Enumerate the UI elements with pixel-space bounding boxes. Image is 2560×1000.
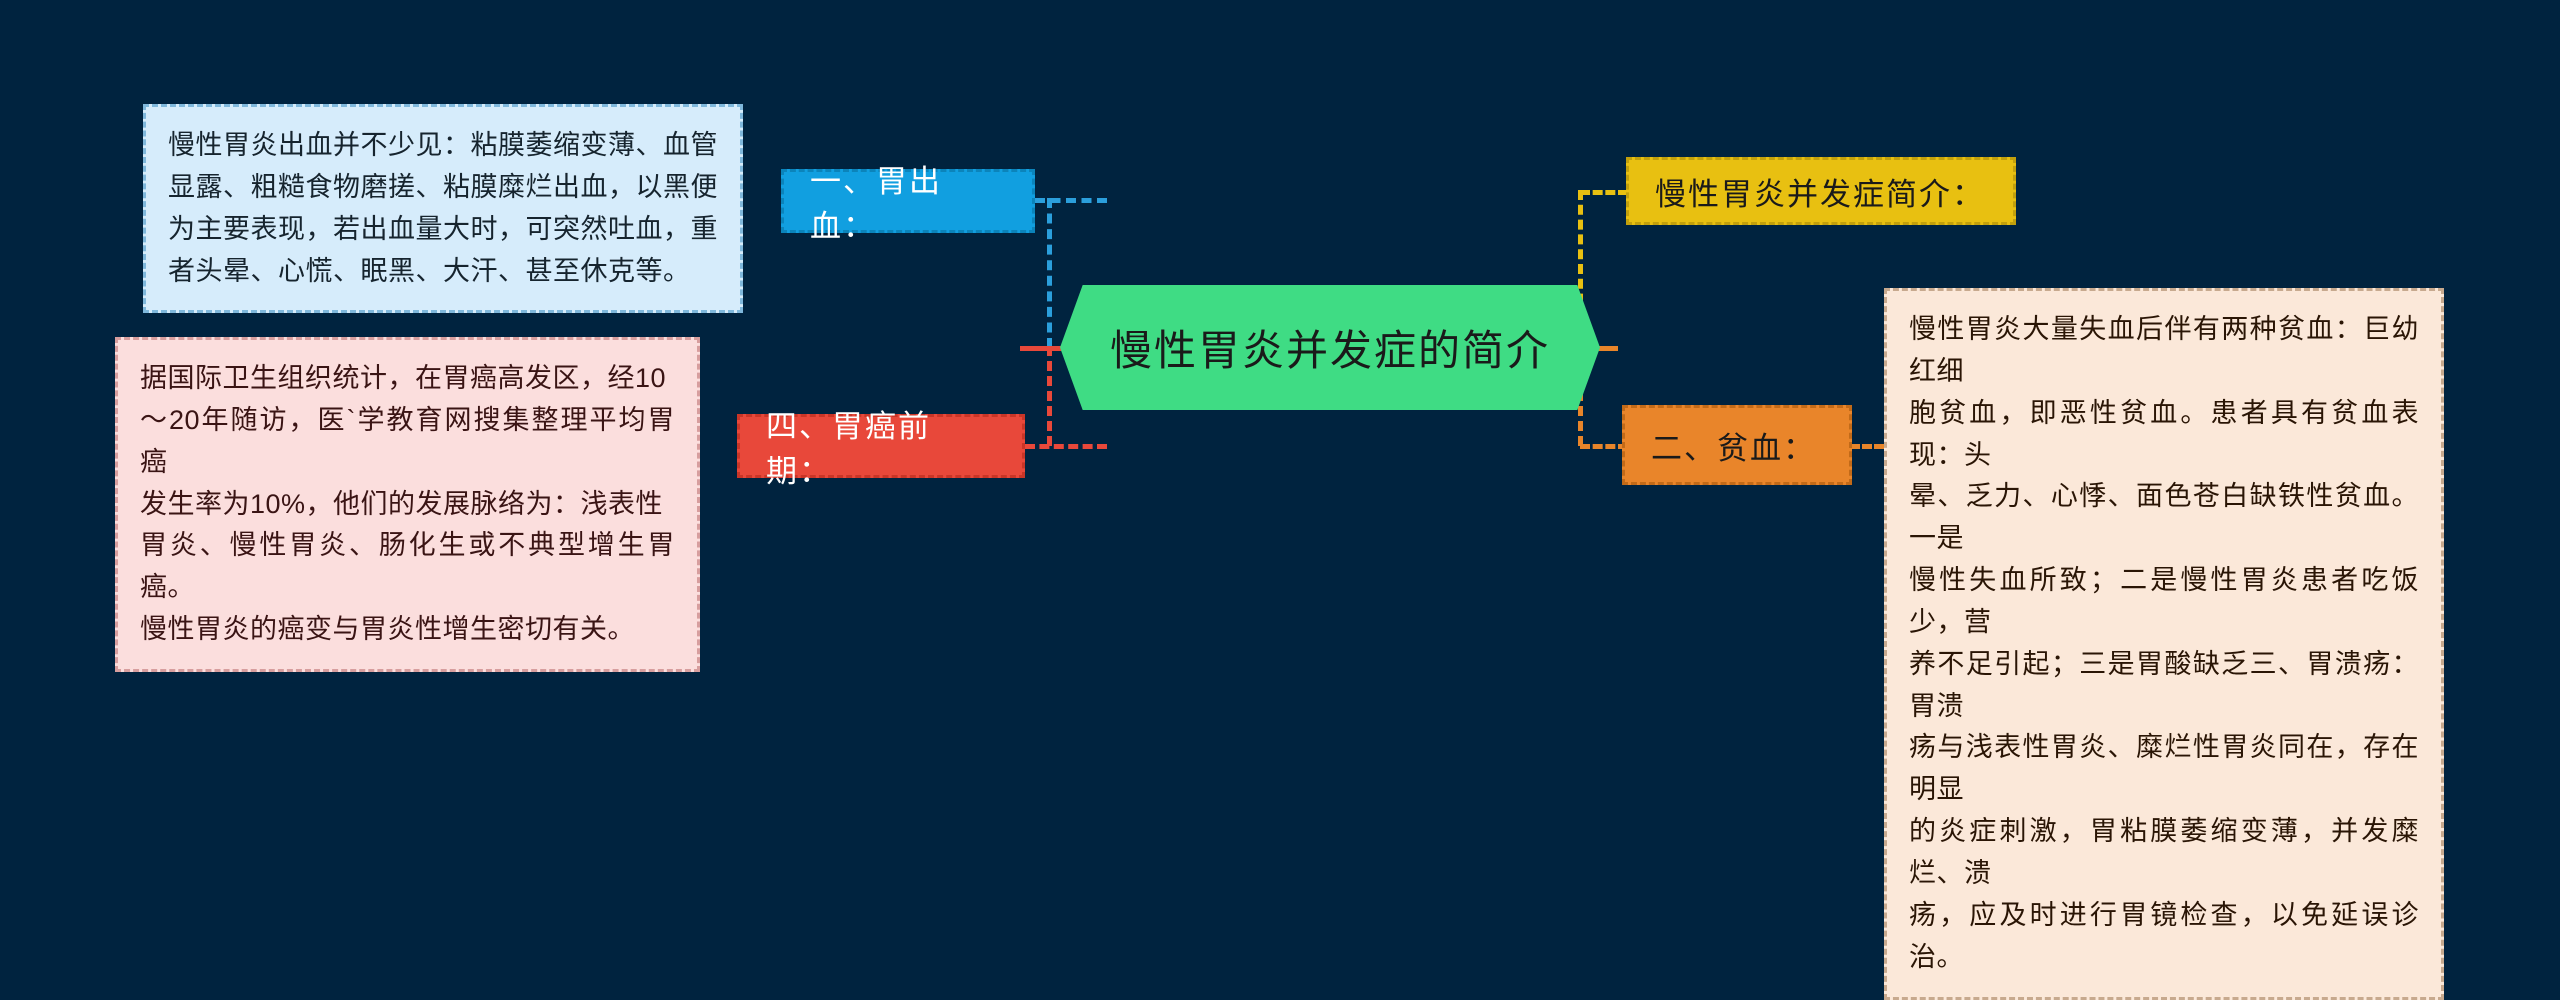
branch-label-text: 四、胃癌前期：	[766, 401, 996, 491]
branch-label-precancerous[interactable]: 四、胃癌前期：	[737, 414, 1025, 478]
connector-precancer-vertical	[1047, 346, 1052, 446]
detail-line: 慢性胃炎出血并不少见：粘膜萎缩变薄、血管	[168, 125, 718, 167]
detail-line: 慢性胃炎的癌变与胃炎性增生密切有关。	[140, 609, 675, 651]
detail-line: 为主要表现，若出血量大时，可突然吐血，重	[168, 209, 718, 251]
connector-intro-horizontal	[1580, 190, 1628, 195]
center-node-hexagon[interactable]: 慢性胃炎并发症的简介	[1060, 285, 1600, 410]
connector-precancer-horizontal	[1025, 444, 1107, 449]
connector-precancer-hub-stub	[1020, 346, 1065, 351]
detail-line: 疡，应及时进行胃镜检查，以免延误诊治。	[1909, 895, 2419, 979]
branch-label-gastric-bleeding[interactable]: 一、胃出血：	[781, 169, 1035, 233]
detail-line: ～20年随访，医`学教育网搜集整理平均胃癌	[140, 400, 675, 484]
connector-anemia-horizontal	[1580, 444, 1628, 449]
center-node-title: 慢性胃炎并发症的简介	[1110, 317, 1550, 378]
detail-line: 养不足引起；三是胃酸缺乏三、胃溃疡：胃溃	[1909, 644, 2419, 728]
detail-line: 胃炎、慢性胃炎、肠化生或不典型增生胃癌。	[140, 525, 675, 609]
detail-box-anemia: 慢性胃炎大量失血后伴有两种贫血：巨幼红细 胞贫血，即恶性贫血。患者具有贫血表现：…	[1884, 288, 2444, 1000]
detail-line: 据国际卫生组织统计，在胃癌高发区，经10	[140, 358, 675, 400]
detail-line: 者头晕、心慌、眠黑、大汗、甚至休克等。	[168, 251, 718, 293]
detail-line: 慢性胃炎大量失血后伴有两种贫血：巨幼红细	[1909, 309, 2419, 393]
branch-label-complications-intro[interactable]: 慢性胃炎并发症简介：	[1626, 157, 2016, 225]
branch-label-text: 慢性胃炎并发症简介：	[1655, 169, 1985, 214]
connector-bleeding-horizontal	[1035, 198, 1107, 203]
branch-label-text: 二、贫血：	[1651, 423, 1816, 468]
connector-bleeding-vertical	[1047, 198, 1052, 348]
detail-line: 的炎症刺激，胃粘膜萎缩变薄，并发糜烂、溃	[1909, 811, 2419, 895]
detail-line: 胞贫血，即恶性贫血。患者具有贫血表现：头	[1909, 393, 2419, 477]
detail-line: 疡与浅表性胃炎、糜烂性胃炎同在，存在明显	[1909, 727, 2419, 811]
detail-box-precancerous: 据国际卫生组织统计，在胃癌高发区，经10 ～20年随访，医`学教育网搜集整理平均…	[115, 337, 700, 672]
branch-label-anemia[interactable]: 二、贫血：	[1622, 405, 1852, 485]
branch-label-text: 一、胃出血：	[810, 156, 1006, 246]
mindmap-canvas: 慢性胃炎出血并不少见：粘膜萎缩变薄、血管 显露、粗糙食物磨搓、粘膜糜烂出血，以黑…	[0, 0, 2560, 712]
detail-line: 显露、粗糙食物磨搓、粘膜糜烂出血，以黑便	[168, 167, 718, 209]
detail-line: 慢性失血所致；二是慢性胃炎患者吃饭少，营	[1909, 560, 2419, 644]
detail-box-gastric-bleeding: 慢性胃炎出血并不少见：粘膜萎缩变薄、血管 显露、粗糙食物磨搓、粘膜糜烂出血，以黑…	[143, 104, 743, 313]
detail-line: 晕、乏力、心悸、面色苍白缺铁性贫血。一是	[1909, 476, 2419, 560]
detail-line: 发生率为10%，他们的发展脉络为：浅表性	[140, 484, 675, 526]
